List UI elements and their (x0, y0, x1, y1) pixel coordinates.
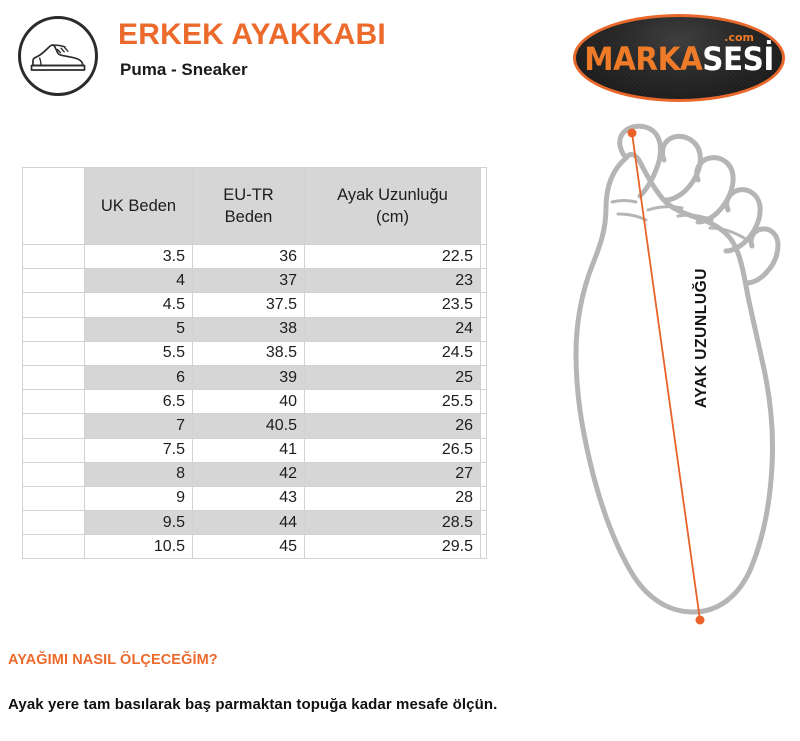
row-cell-eu: 45 (193, 535, 305, 559)
row-cell-eu: 42 (193, 462, 305, 486)
row-cell-tail (481, 390, 487, 414)
row-cell-uk: 7.5 (85, 438, 193, 462)
row-cell-tail (481, 486, 487, 510)
column-header-eu: EU-TR Beden (193, 168, 305, 245)
row-cell-eu: 40.5 (193, 414, 305, 438)
column-header-eu-line2: Beden (225, 208, 273, 226)
row-cell-tail (481, 293, 487, 317)
row-cell-length: 23 (305, 269, 481, 293)
table-row: 7.54126.5 (23, 438, 487, 462)
row-cell-blank (23, 293, 85, 317)
row-cell-tail (481, 438, 487, 462)
table-row: 94328 (23, 486, 487, 510)
row-cell-blank (23, 414, 85, 438)
column-header-length: Ayak Uzunluğu (cm) (305, 168, 481, 245)
table-body: 3.53622.5437234.537.523.5538245.538.524.… (23, 245, 487, 559)
row-cell-uk: 6.5 (85, 390, 193, 414)
row-cell-tail (481, 341, 487, 365)
column-header-tail (481, 168, 487, 245)
row-cell-length: 25.5 (305, 390, 481, 414)
logo-text-sesi: SESİ (702, 40, 774, 78)
size-chart-table: UK Beden EU-TR Beden Ayak Uzunluğu (cm) … (22, 167, 487, 559)
row-cell-blank (23, 390, 85, 414)
table-row: 3.53622.5 (23, 245, 487, 269)
table-row: 63925 (23, 365, 487, 389)
row-cell-eu: 38 (193, 317, 305, 341)
table-row: 740.526 (23, 414, 487, 438)
logo-wordmark: MARKASESİ (584, 43, 774, 75)
row-cell-tail (481, 462, 487, 486)
row-cell-blank (23, 245, 85, 269)
row-cell-eu: 39 (193, 365, 305, 389)
row-cell-uk: 6 (85, 365, 193, 389)
how-to-measure-heading: AYAĞIMI NASIL ÖLÇECEĞİM? (8, 652, 218, 668)
row-cell-blank (23, 341, 85, 365)
logo-tld: .com (724, 31, 754, 44)
row-cell-blank (23, 365, 85, 389)
row-cell-eu: 36 (193, 245, 305, 269)
table-row: 53824 (23, 317, 487, 341)
table-header: UK Beden EU-TR Beden Ayak Uzunluğu (cm) (23, 168, 487, 245)
row-cell-length: 23.5 (305, 293, 481, 317)
row-cell-length: 24 (305, 317, 481, 341)
page-title: ERKEK AYAKKABI (118, 18, 386, 51)
row-cell-length: 22.5 (305, 245, 481, 269)
row-cell-uk: 9 (85, 486, 193, 510)
row-cell-length: 24.5 (305, 341, 481, 365)
row-cell-uk: 8 (85, 462, 193, 486)
column-header-uk-line1: UK Beden (101, 197, 176, 215)
row-cell-eu: 41 (193, 438, 305, 462)
table-row: 5.538.524.5 (23, 341, 487, 365)
column-header-uk: UK Beden (85, 168, 193, 245)
sneaker-icon (18, 16, 98, 96)
row-cell-tail (481, 245, 487, 269)
row-cell-tail (481, 511, 487, 535)
row-cell-length: 28.5 (305, 511, 481, 535)
table-row: 4.537.523.5 (23, 293, 487, 317)
markasesi-logo[interactable]: MARKASESİ .com (573, 14, 785, 102)
row-cell-eu: 37.5 (193, 293, 305, 317)
foot-measurement-diagram (560, 118, 790, 634)
table-row: 9.54428.5 (23, 511, 487, 535)
row-cell-uk: 10.5 (85, 535, 193, 559)
row-cell-blank (23, 317, 85, 341)
column-header-length-line1: Ayak Uzunluğu (337, 186, 448, 204)
page-header: ERKEK AYAKKABI Puma - Sneaker MARKASESİ … (0, 0, 800, 122)
table-row: 6.54025.5 (23, 390, 487, 414)
row-cell-blank (23, 462, 85, 486)
row-cell-tail (481, 535, 487, 559)
row-cell-length: 26 (305, 414, 481, 438)
row-cell-uk: 7 (85, 414, 193, 438)
how-to-measure-note: Ayak yere tam basılarak baş parmaktan to… (8, 696, 497, 713)
table-header-row: UK Beden EU-TR Beden Ayak Uzunluğu (cm) (23, 168, 487, 245)
row-cell-length: 25 (305, 365, 481, 389)
row-cell-uk: 4 (85, 269, 193, 293)
table-row: 43723 (23, 269, 487, 293)
row-cell-eu: 40 (193, 390, 305, 414)
row-cell-length: 26.5 (305, 438, 481, 462)
row-cell-tail (481, 414, 487, 438)
row-cell-eu: 37 (193, 269, 305, 293)
diagram-caption: AYAK UZUNLUĞU (693, 268, 711, 408)
product-subtitle: Puma - Sneaker (120, 60, 248, 80)
row-cell-blank (23, 269, 85, 293)
row-cell-uk: 9.5 (85, 511, 193, 535)
column-header-length-line2: (cm) (376, 208, 409, 226)
row-cell-eu: 38.5 (193, 341, 305, 365)
table-row: 10.54529.5 (23, 535, 487, 559)
row-cell-uk: 4.5 (85, 293, 193, 317)
row-cell-length: 29.5 (305, 535, 481, 559)
row-cell-tail (481, 269, 487, 293)
column-header-eu-line1: EU-TR (223, 186, 273, 204)
row-cell-length: 27 (305, 462, 481, 486)
table-row: 84227 (23, 462, 487, 486)
row-cell-eu: 43 (193, 486, 305, 510)
row-cell-uk: 3.5 (85, 245, 193, 269)
column-header-blank (23, 168, 85, 245)
row-cell-eu: 44 (193, 511, 305, 535)
row-cell-blank (23, 438, 85, 462)
row-cell-tail (481, 317, 487, 341)
row-cell-blank (23, 535, 85, 559)
row-cell-uk: 5 (85, 317, 193, 341)
row-cell-blank (23, 486, 85, 510)
row-cell-length: 28 (305, 486, 481, 510)
row-cell-blank (23, 511, 85, 535)
logo-text-marka: MARKA (584, 40, 702, 78)
row-cell-uk: 5.5 (85, 341, 193, 365)
row-cell-tail (481, 365, 487, 389)
